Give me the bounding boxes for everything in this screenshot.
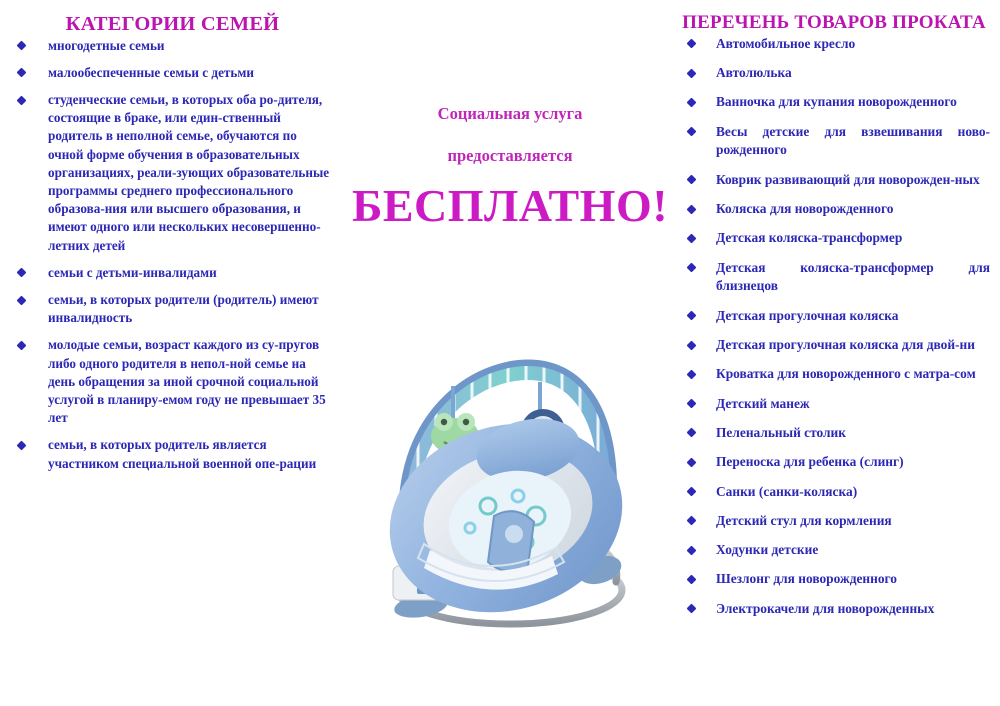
list-item-label: Весы детские для взвешивания ново-рожден…	[716, 123, 990, 161]
diamond-bullet-icon	[687, 457, 697, 467]
diamond-bullet-icon	[687, 311, 697, 321]
free-service-notice: Социальная услуга предоставляется БЕСПЛА…	[345, 104, 675, 230]
notice-line-2: предоставляется	[345, 146, 675, 166]
diamond-bullet-icon	[687, 369, 697, 379]
list-item-label: Детская коляска-трансформер	[716, 229, 990, 248]
right-column: ПЕРЕЧЕНЬ ТОВАРОВ ПРОКАТА Автомобильное к…	[678, 12, 990, 629]
list-item: Кроватка для новорожденного с матра-сом	[678, 365, 990, 384]
list-item-label: Детский манеж	[716, 395, 990, 414]
list-item-label: Автолюлька	[716, 64, 990, 83]
list-item-label: семьи с детьми-инвалидами	[48, 264, 335, 282]
list-item: Детская коляска-трансформер для близнецо…	[678, 259, 990, 297]
left-column: КАТЕГОРИИ СЕМЕЙ многодетные семьималообе…	[10, 12, 335, 482]
diamond-bullet-icon	[687, 399, 697, 409]
list-item: Детская прогулочная коляска для двой-ни	[678, 336, 990, 355]
list-item: Ходунки детские	[678, 541, 990, 560]
list-item-label: Детский стул для кормления	[716, 512, 990, 531]
list-item: семьи, в которых родители (родитель) име…	[10, 291, 335, 327]
list-item: Коляска для новорожденного	[678, 200, 990, 219]
diamond-bullet-icon	[17, 441, 27, 451]
list-item: семьи, в которых родитель является участ…	[10, 436, 335, 472]
list-item-label: Пеленальный столик	[716, 424, 990, 443]
rental-items-list: Автомобильное креслоАвтолюлькаВанночка д…	[678, 35, 990, 619]
list-item-label: Коляска для новорожденного	[716, 200, 990, 219]
list-item-label: Переноска для ребенка (слинг)	[716, 453, 990, 472]
diamond-bullet-icon	[687, 516, 697, 526]
diamond-bullet-icon	[687, 175, 697, 185]
list-item-label: Шезлонг для новорожденного	[716, 570, 990, 589]
list-item: Электрокачели для новорожденных	[678, 600, 990, 619]
list-item-label: Ходунки детские	[716, 541, 990, 560]
diamond-bullet-icon	[687, 233, 697, 243]
diamond-bullet-icon	[17, 268, 27, 278]
list-item: Пеленальный столик	[678, 424, 990, 443]
list-item-label: малообеспеченные семьи с детьми	[48, 64, 335, 82]
diamond-bullet-icon	[687, 428, 697, 438]
list-item: Детский стул для кормления	[678, 512, 990, 531]
list-item-label: молодые семьи, возраст каждого из су-пру…	[48, 336, 335, 427]
list-item-label: Электрокачели для новорожденных	[716, 600, 990, 619]
diamond-bullet-icon	[687, 340, 697, 350]
list-item-label: Автомобильное кресло	[716, 35, 990, 54]
list-item-label: Детская коляска-трансформер для близнецо…	[716, 259, 990, 297]
diamond-bullet-icon	[17, 340, 27, 350]
diamond-bullet-icon	[17, 295, 27, 305]
list-item: Детская коляска-трансформер	[678, 229, 990, 248]
list-item: малообеспеченные семьи с детьми	[10, 64, 335, 82]
diamond-bullet-icon	[687, 97, 697, 107]
list-item: Весы детские для взвешивания ново-рожден…	[678, 123, 990, 161]
notice-line-1: Социальная услуга	[345, 104, 675, 124]
list-item: Переноска для ребенка (слинг)	[678, 453, 990, 472]
diamond-bullet-icon	[687, 68, 697, 78]
list-item: семьи с детьми-инвалидами	[10, 264, 335, 282]
list-item-label: студенческие семьи, в которых оба ро-дит…	[48, 91, 335, 255]
list-item-label: Санки (санки-коляска)	[716, 483, 990, 502]
center-column: Социальная услуга предоставляется БЕСПЛА…	[345, 12, 675, 230]
list-item: Автомобильное кресло	[678, 35, 990, 54]
list-item-label: Коврик развивающий для новорожден-ных	[716, 171, 990, 190]
diamond-bullet-icon	[687, 204, 697, 214]
list-item-label: Детская прогулочная коляска для двой-ни	[716, 336, 990, 355]
list-item: Санки (санки-коляска)	[678, 483, 990, 502]
list-item: молодые семьи, возраст каждого из су-пру…	[10, 336, 335, 427]
list-item: Ванночка для купания новорожденного	[678, 93, 990, 112]
diamond-bullet-icon	[17, 95, 27, 105]
diamond-bullet-icon	[17, 68, 27, 78]
list-item: Коврик развивающий для новорожден-ных	[678, 171, 990, 190]
baby-bouncer-chair-image	[358, 338, 668, 638]
list-item-label: Кроватка для новорожденного с матра-сом	[716, 365, 990, 384]
list-item-label: семьи, в которых родители (родитель) име…	[48, 291, 335, 327]
list-item-label: Ванночка для купания новорожденного	[716, 93, 990, 112]
family-categories-list: многодетные семьималообеспеченные семьи …	[10, 37, 335, 473]
diamond-bullet-icon	[687, 127, 697, 137]
diamond-bullet-icon	[17, 41, 27, 51]
list-item-label: семьи, в которых родитель является участ…	[48, 436, 335, 472]
list-item: многодетные семьи	[10, 37, 335, 55]
left-column-title: КАТЕГОРИИ СЕМЕЙ	[10, 12, 335, 37]
diamond-bullet-icon	[687, 604, 697, 614]
brochure-page: КАТЕГОРИИ СЕМЕЙ многодетные семьималообе…	[0, 0, 1000, 706]
diamond-bullet-icon	[687, 574, 697, 584]
list-item-label: Детская прогулочная коляска	[716, 307, 990, 326]
right-column-title: ПЕРЕЧЕНЬ ТОВАРОВ ПРОКАТА	[678, 12, 990, 35]
diamond-bullet-icon	[687, 487, 697, 497]
diamond-bullet-icon	[687, 39, 697, 49]
diamond-bullet-icon	[687, 545, 697, 555]
list-item: Детская прогулочная коляска	[678, 307, 990, 326]
free-highlight: БЕСПЛАТНО!	[345, 182, 675, 230]
list-item-label: многодетные семьи	[48, 37, 335, 55]
list-item: студенческие семьи, в которых оба ро-дит…	[10, 91, 335, 255]
list-item: Автолюлька	[678, 64, 990, 83]
diamond-bullet-icon	[687, 263, 697, 273]
list-item: Шезлонг для новорожденного	[678, 570, 990, 589]
list-item: Детский манеж	[678, 395, 990, 414]
